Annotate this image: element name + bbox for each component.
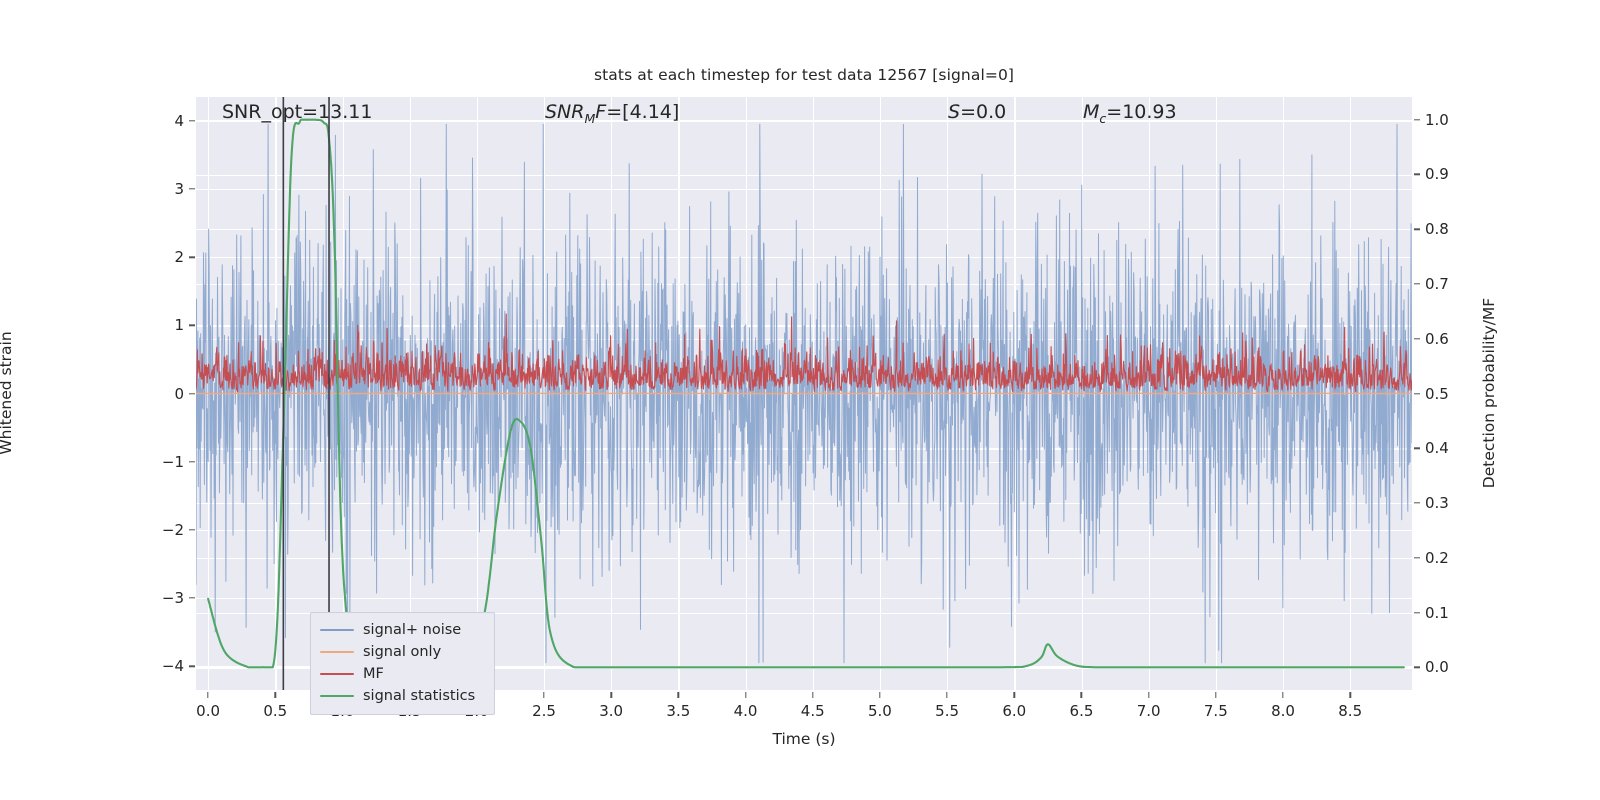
y-tick-label-right: 0.8 [1425, 220, 1449, 238]
y-tick-mark-right [1414, 612, 1420, 613]
x-tick-label: 3.0 [599, 702, 623, 720]
vertical-markers [196, 97, 1412, 690]
y-tick-mark-right [1414, 393, 1420, 394]
x-tick-label: 6.0 [1002, 702, 1026, 720]
y-tick-label-right: 0.7 [1425, 275, 1449, 293]
x-tick-mark [275, 692, 276, 698]
x-tick-mark [812, 692, 813, 698]
legend-swatch-line [320, 695, 354, 697]
x-tick-mark [1148, 692, 1149, 698]
chart-title: stats at each timestep for test data 125… [196, 66, 1412, 84]
y-tick-mark-left [189, 325, 195, 326]
annotation-snr-opt: SNR_opt=13.11 [222, 101, 372, 123]
x-tick-label: 8.5 [1338, 702, 1362, 720]
x-tick-mark [1014, 692, 1015, 698]
y-tick-label-left: −2 [162, 521, 184, 539]
x-tick-label: 0.0 [196, 702, 220, 720]
y-tick-mark-right [1414, 502, 1420, 503]
y-tick-mark-right [1414, 119, 1420, 120]
y-tick-mark-left [189, 597, 195, 598]
x-tick-label: 6.5 [1070, 702, 1094, 720]
y-tick-mark-right [1414, 229, 1420, 230]
y-tick-label-right: 0.5 [1425, 385, 1449, 403]
y-tick-mark-left [189, 665, 195, 666]
y-tick-mark-right [1414, 283, 1420, 284]
y-tick-mark-left [189, 188, 195, 189]
legend-label: MF [363, 666, 384, 682]
y-tick-mark-right [1414, 174, 1420, 175]
y-tick-label-right: 0.6 [1425, 330, 1449, 348]
y-tick-mark-left [189, 461, 195, 462]
legend[interactable]: signal+ noisesignal onlyMFsignal statist… [310, 612, 495, 715]
annotation-snr-mf: SNRMF=[4.14] [545, 101, 679, 126]
y-tick-label-left: 1 [174, 316, 184, 334]
y-tick-label-right: 0.9 [1425, 165, 1449, 183]
y-tick-mark-right [1414, 448, 1420, 449]
y-tick-mark-right [1414, 338, 1420, 339]
y-tick-label-left: 3 [174, 180, 184, 198]
x-tick-label: 2.5 [532, 702, 556, 720]
x-tick-mark [543, 692, 544, 698]
x-tick-mark [207, 692, 208, 698]
y-tick-label-left: −4 [162, 657, 184, 675]
y-tick-mark-right [1414, 667, 1420, 668]
legend-label: signal statistics [363, 688, 475, 704]
x-tick-mark [610, 692, 611, 698]
x-tick-label: 4.0 [734, 702, 758, 720]
annotation-s-stat: S=0.0 [948, 101, 1006, 123]
legend-label: signal+ noise [363, 622, 461, 638]
y-axis-label-left: Whitened strain [0, 331, 15, 454]
x-tick-mark [1215, 692, 1216, 698]
legend-item[interactable]: signal+ noise [320, 619, 485, 641]
y-tick-label-right: 0.1 [1425, 604, 1449, 622]
legend-swatch-line [320, 651, 354, 653]
y-tick-mark-left [189, 256, 195, 257]
x-tick-mark [745, 692, 746, 698]
x-tick-label: 4.5 [801, 702, 825, 720]
y-tick-mark-right [1414, 557, 1420, 558]
x-tick-mark [879, 692, 880, 698]
plot-area [196, 97, 1412, 690]
legend-item[interactable]: signal only [320, 641, 485, 663]
y-tick-label-right: 1.0 [1425, 111, 1449, 129]
x-tick-mark [1282, 692, 1283, 698]
y-axis-label-right: Detection probability/MF [1480, 298, 1498, 488]
x-tick-label: 0.5 [263, 702, 287, 720]
x-axis-label: Time (s) [196, 730, 1412, 748]
annotation-mass-chirp: Mc=10.93 [1083, 101, 1177, 126]
x-tick-mark [1081, 692, 1082, 698]
y-tick-mark-left [189, 529, 195, 530]
y-tick-mark-left [189, 120, 195, 121]
y-tick-label-left: 2 [174, 248, 184, 266]
y-tick-mark-left [189, 393, 195, 394]
legend-swatch-line [320, 629, 354, 631]
x-tick-mark [946, 692, 947, 698]
x-tick-label: 8.0 [1271, 702, 1295, 720]
y-tick-label-left: −3 [162, 589, 184, 607]
legend-swatch-line [320, 673, 354, 675]
y-tick-label-right: 0.2 [1425, 549, 1449, 567]
y-tick-label-right: 0.0 [1425, 658, 1449, 676]
y-tick-label-right: 0.3 [1425, 494, 1449, 512]
x-tick-mark [678, 692, 679, 698]
x-tick-label: 7.0 [1137, 702, 1161, 720]
legend-item[interactable]: signal statistics [320, 685, 485, 707]
x-tick-label: 5.0 [868, 702, 892, 720]
figure-canvas: stats at each timestep for test data 125… [0, 0, 1600, 800]
y-tick-label-right: 0.4 [1425, 439, 1449, 457]
x-tick-mark [1349, 692, 1350, 698]
x-tick-label: 5.5 [935, 702, 959, 720]
x-tick-label: 3.5 [666, 702, 690, 720]
x-tick-label: 7.5 [1204, 702, 1228, 720]
y-tick-label-left: −1 [162, 453, 184, 471]
legend-item[interactable]: MF [320, 663, 485, 685]
y-tick-label-left: 4 [174, 112, 184, 130]
y-tick-label-left: 0 [174, 385, 184, 403]
legend-label: signal only [363, 644, 441, 660]
